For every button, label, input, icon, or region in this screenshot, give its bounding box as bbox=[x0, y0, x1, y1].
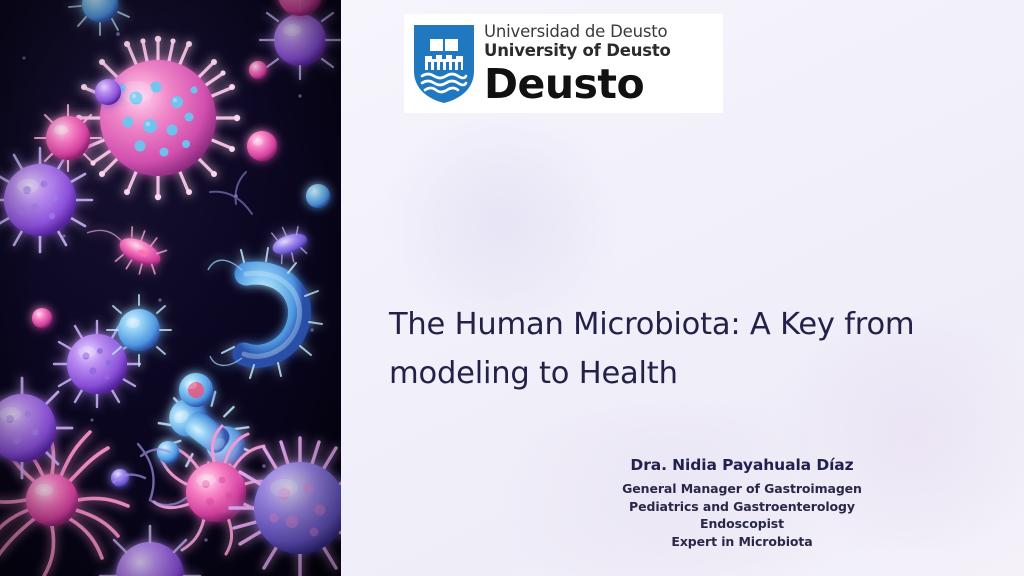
presenter-name: Dra. Nidia Payahuala Díaz bbox=[542, 455, 942, 476]
deusto-university-logo: Universidad de Deusto University of Deus… bbox=[404, 14, 723, 113]
university-name-english: University of Deusto bbox=[484, 41, 715, 60]
title-line-1: The Human Microbiota: A Key from bbox=[389, 300, 979, 349]
presenter-role: Endoscopist bbox=[542, 515, 942, 533]
deusto-brand-word: Deusto bbox=[484, 62, 715, 106]
background-bloom bbox=[371, 120, 631, 320]
deusto-wordmark: Universidad de Deusto University of Deus… bbox=[484, 22, 715, 106]
university-name-spanish: Universidad de Deusto bbox=[484, 22, 715, 41]
page-title: The Human Microbiota: A Key from modelin… bbox=[389, 300, 979, 398]
presenter-role: Expert in Microbiota bbox=[542, 533, 942, 551]
presenter-credits: Dra. Nidia Payahuala Díaz General Manage… bbox=[542, 455, 942, 550]
presenter-role: Pediatrics and Gastroenterology bbox=[542, 498, 942, 516]
presenter-role: General Manager of Gastroimagen bbox=[542, 480, 942, 498]
microbiota-artwork bbox=[0, 0, 341, 576]
presentation-slide: Universidad de Deusto University of Deus… bbox=[0, 0, 1024, 576]
microbiota-illustration bbox=[0, 0, 341, 576]
slide-content-area: Universidad de Deusto University of Deus… bbox=[341, 0, 1024, 576]
deusto-shield-icon bbox=[412, 23, 476, 105]
title-line-2: modeling to Health bbox=[389, 349, 979, 398]
